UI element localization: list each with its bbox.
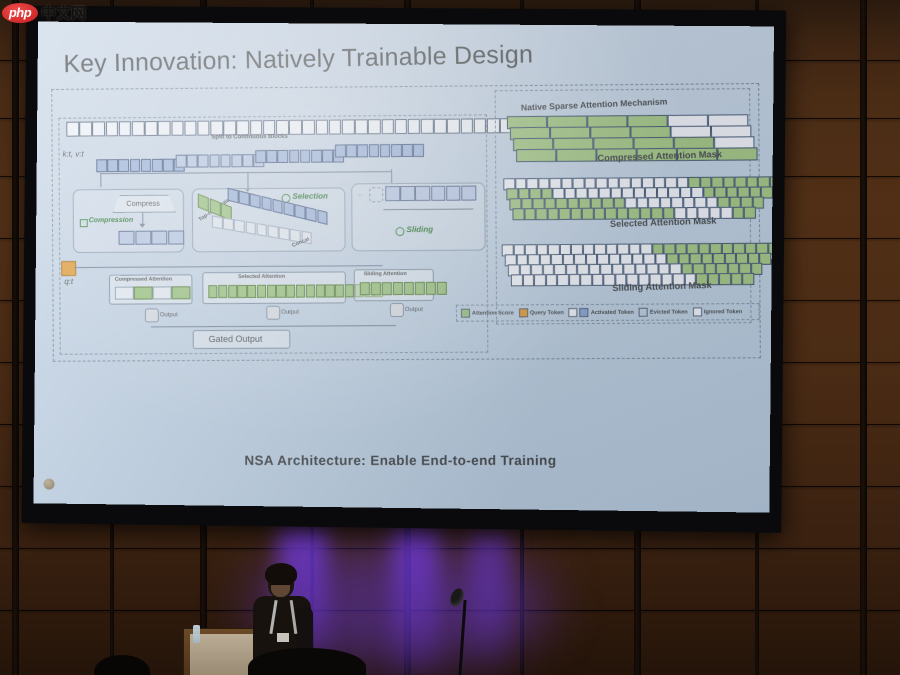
speaker-hair (265, 563, 297, 585)
php-logo-text: php (9, 5, 31, 20)
name-badge (277, 633, 289, 642)
legend-label-evicted-token: Evicted Token (650, 309, 688, 315)
gated-output-label: Gated Output (209, 334, 263, 344)
photo-scene: Key Innovation: Natively Trainable Desig… (0, 0, 900, 675)
continuous-block-2 (176, 154, 265, 168)
output-node-2 (266, 306, 280, 320)
compressed-attention-cells (115, 286, 191, 299)
legend-item-attention-score: Attention Score (461, 308, 514, 317)
legend-label-attention-score: Attention Score (472, 310, 514, 316)
query-token-square (61, 261, 76, 276)
wood-panel-seam (0, 548, 900, 549)
legend-label-query-token: Query Token (530, 310, 564, 316)
wall-mullion (860, 0, 867, 675)
page-title: Key Innovation: Natively Trainable Desig… (63, 40, 533, 79)
diagram-legend: Attention Score Query Token Activated To… (456, 303, 760, 322)
ignored-token-swatch (693, 307, 702, 316)
sliding-window-cells (385, 186, 476, 202)
legend-item-query-token: Query Token (519, 308, 564, 317)
slide-caption: NSA Architecture: Enable End-to-end Trai… (34, 453, 770, 468)
output-node-1 (145, 308, 159, 322)
wall-mullion (12, 0, 19, 675)
php-logo-icon: php (2, 3, 38, 23)
evicted-token-cell (369, 187, 383, 202)
branch-line-compression (100, 173, 101, 187)
output-node-3 (390, 303, 404, 317)
site-watermark: php 中文网 (2, 2, 86, 23)
speaker-glasses (270, 584, 290, 589)
selected-attention-label: Selected Attention (238, 274, 285, 280)
water-bottle (193, 625, 200, 643)
continuous-block-4 (335, 144, 425, 158)
ellipsis-label: ... (357, 191, 362, 197)
legend-item-ignored-token: Ignored Token (693, 307, 743, 316)
wood-panel-seam (0, 610, 900, 611)
compressed-attention-label: Compressed Attention (115, 276, 172, 282)
sliding-icon (395, 227, 404, 236)
watermark-site-text: 中文网 (41, 2, 86, 23)
sliding-attention-cells (360, 282, 448, 296)
continuous-block-1 (96, 159, 185, 173)
evicted-token-swatch (639, 308, 648, 317)
legend-item-evicted-token: Evicted Token (639, 307, 688, 316)
legend-label-ignored-token: Ignored Token (704, 309, 742, 315)
compress-op-label: Compress (126, 199, 160, 208)
compress-arrow (139, 224, 145, 228)
sliding-label: Sliding (406, 225, 433, 234)
sliding-attention-label: Sliding Attention (364, 271, 407, 277)
slide-corner-marker (44, 479, 55, 490)
activated-token-swatch-blue (580, 308, 589, 317)
query-token-swatch (519, 308, 528, 317)
continuous-block-3 (255, 149, 344, 163)
legend-item-activated-token: Activated Token (569, 308, 634, 317)
output-label-3: Output (405, 307, 423, 313)
branch-line-sliding (391, 169, 392, 183)
presentation-slide: Key Innovation: Natively Trainable Desig… (34, 22, 774, 513)
projection-screen: Key Innovation: Natively Trainable Desig… (22, 8, 782, 528)
compression-icon (80, 219, 88, 227)
activated-token-swatch-white (569, 308, 578, 317)
nsa-architecture-diagram: k:t, v:t Split to Continuous Blocks Comp… (51, 83, 761, 362)
compressed-kv-cells (119, 230, 185, 244)
output-label-1: Output (160, 312, 178, 318)
attention-score-swatch (461, 309, 470, 318)
kv-label: k:t, v:t (62, 149, 83, 158)
split-blocks-label: Split to Continuous Blocks (211, 134, 287, 141)
compression-label: Compression (89, 217, 133, 224)
query-label: q:t (64, 277, 73, 286)
output-label-2: Output (281, 310, 299, 316)
selection-label: Selection (292, 192, 328, 201)
legend-label-activated-token: Activated Token (591, 309, 634, 315)
